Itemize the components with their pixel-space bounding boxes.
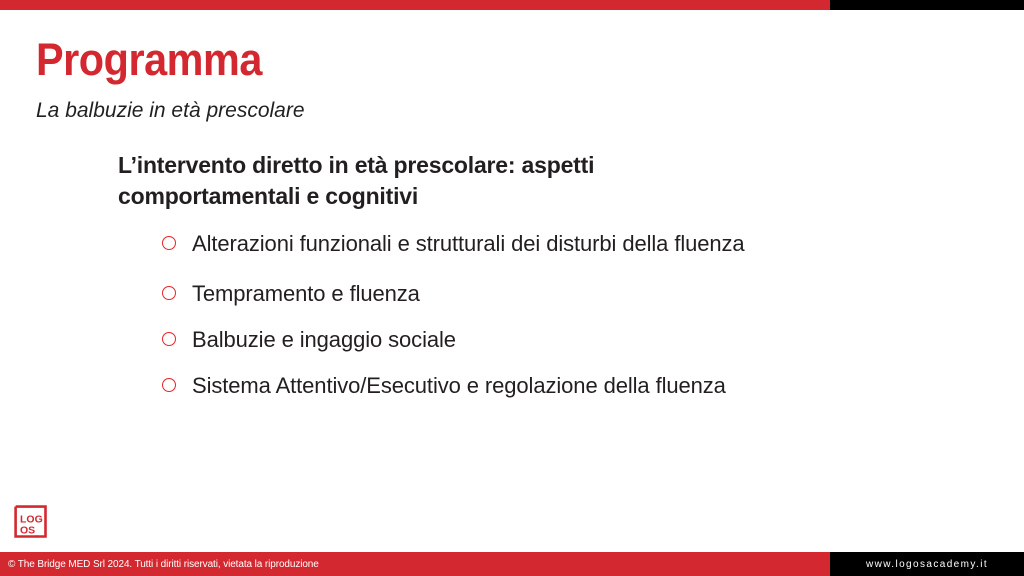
slide-root: Programma La balbuzie in età prescolare … (0, 0, 1024, 576)
logo-text-line2: OS (20, 525, 35, 537)
footer-website-section: www.logosacademy.it (830, 552, 1024, 576)
circle-bullet-icon (162, 378, 176, 392)
top-accent-bar-red (0, 0, 830, 10)
top-accent-bar (0, 0, 1024, 10)
list-item: Tempramento e fluenza (158, 278, 978, 310)
section-heading: L’intervento diretto in età prescolare: … (118, 150, 758, 211)
list-item-label: Tempramento e fluenza (192, 281, 420, 306)
footer-bar: © The Bridge MED Srl 2024. Tutti i dirit… (0, 552, 1024, 576)
footer-copyright-text: © The Bridge MED Srl 2024. Tutti i dirit… (0, 559, 319, 570)
top-accent-bar-black (830, 0, 1024, 10)
logos-logo: LOG OS (14, 505, 54, 543)
page-title: Programma (36, 36, 262, 83)
circle-bullet-icon (162, 286, 176, 300)
list-item: Sistema Attentivo/Esecutivo e regolazion… (158, 370, 978, 402)
footer-website-link[interactable]: www.logosacademy.it (866, 559, 988, 570)
circle-bullet-icon (162, 332, 176, 346)
circle-bullet-icon (162, 236, 176, 250)
list-item: Alterazioni funzionali e strutturali dei… (158, 228, 918, 260)
page-subtitle: La balbuzie in età prescolare (36, 99, 305, 123)
list-item-label: Sistema Attentivo/Esecutivo e regolazion… (192, 373, 726, 398)
list-item-label: Balbuzie e ingaggio sociale (192, 327, 456, 352)
agenda-list: Alterazioni funzionali e strutturali dei… (158, 228, 978, 416)
list-item-label: Alterazioni funzionali e strutturali dei… (192, 231, 745, 256)
list-item: Balbuzie e ingaggio sociale (158, 324, 978, 356)
footer-copyright-section: © The Bridge MED Srl 2024. Tutti i dirit… (0, 552, 830, 576)
